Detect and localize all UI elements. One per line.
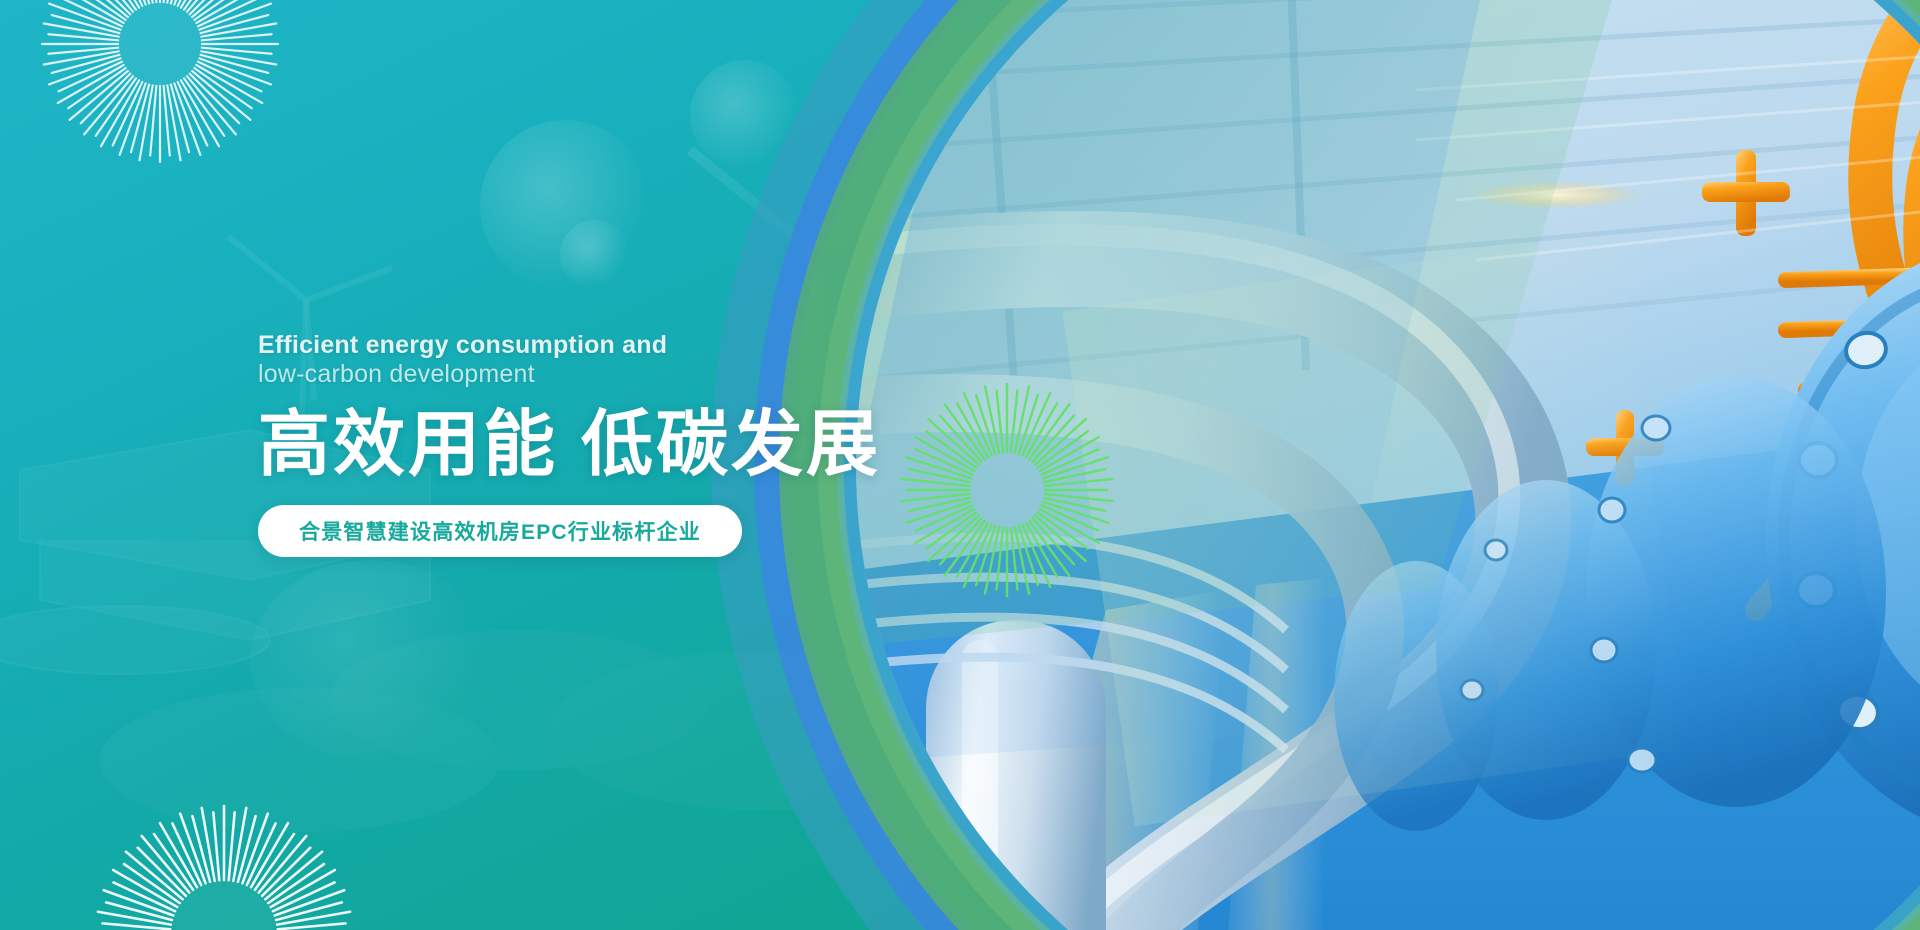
eyebrow-line-2: low-carbon development xyxy=(258,359,958,389)
bokeh-dot-4 xyxy=(250,560,490,760)
bokeh-dot-1 xyxy=(480,120,650,290)
sunburst-bottom-left xyxy=(0,740,560,930)
bokeh-dot-3 xyxy=(560,220,630,290)
tagline-pill[interactable]: 合景智慧建设高效机房EPC行业标杆企业 xyxy=(258,505,742,557)
bokeh-dot-2 xyxy=(690,60,800,170)
industrial-plant-photo xyxy=(856,0,1920,930)
hero-copy-block: Efficient energy consumption and low-car… xyxy=(258,330,958,557)
tagline-pill-label: 合景智慧建设高效机房EPC行业标杆企业 xyxy=(299,516,701,546)
page-title: 高效用能 低碳发展 xyxy=(258,407,958,483)
eyebrow-line-1: Efficient energy consumption and xyxy=(258,330,958,360)
sunburst-top-left xyxy=(0,0,480,320)
hero-banner: Efficient energy consumption and low-car… xyxy=(0,0,1920,930)
pipe-photo-art xyxy=(856,0,1920,930)
